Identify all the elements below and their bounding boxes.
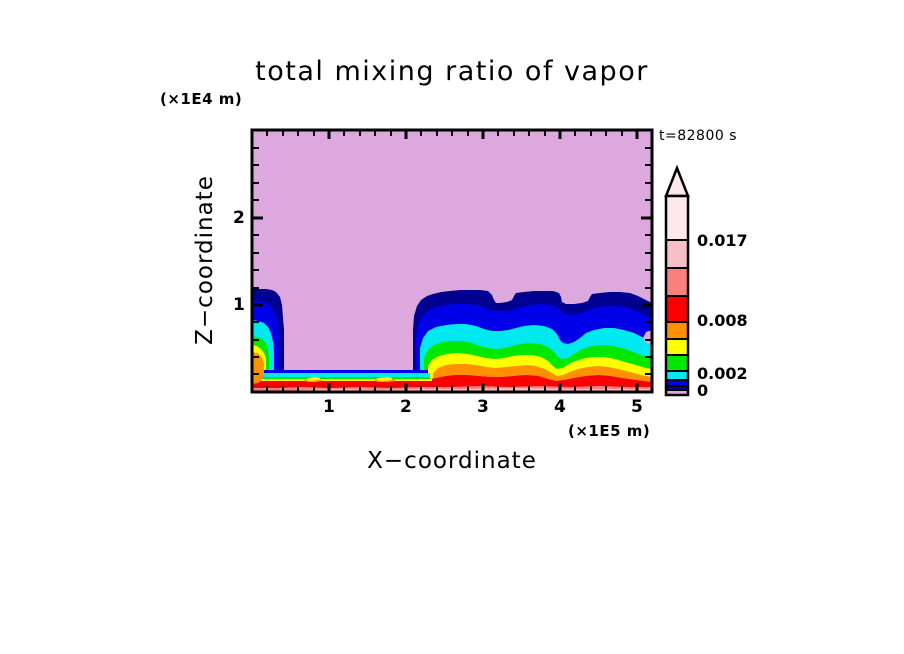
colorbar-tick-label-0: 0 (697, 381, 708, 400)
colorbar-band-7 (666, 371, 688, 380)
colorbar-band-1 (666, 240, 688, 268)
x-tick-label-2: 2 (400, 397, 412, 417)
contour-plot (0, 0, 904, 654)
colorbar-band-5 (666, 339, 688, 355)
contour-filament-yellow (252, 379, 432, 381)
y-tick-label-2: 2 (233, 208, 245, 228)
colorbar-tick-label-0017: 0.017 (697, 231, 748, 250)
colorbar-band-3 (666, 296, 688, 322)
colorbar (666, 168, 688, 395)
figure-canvas: total mixing ratio of vapor (×1E4 m) t=8… (0, 0, 904, 654)
y-tick-label-1: 1 (233, 295, 245, 315)
colorbar-extend-arrow (666, 168, 688, 196)
x-tick-label-5: 5 (631, 397, 643, 417)
colorbar-tick-label-0008: 0.008 (697, 311, 748, 330)
x-tick-label-3: 3 (477, 397, 489, 417)
contour-filament-cyan (252, 373, 430, 377)
colorbar-band-6 (666, 355, 688, 371)
x-tick-label-1: 1 (323, 397, 335, 417)
x-tick-label-4: 4 (554, 397, 566, 417)
contour-field (252, 130, 652, 392)
colorbar-band-2 (666, 268, 688, 296)
colorbar-band-0 (666, 196, 688, 240)
contour-filament-blue (252, 370, 428, 373)
colorbar-band-4 (666, 322, 688, 339)
